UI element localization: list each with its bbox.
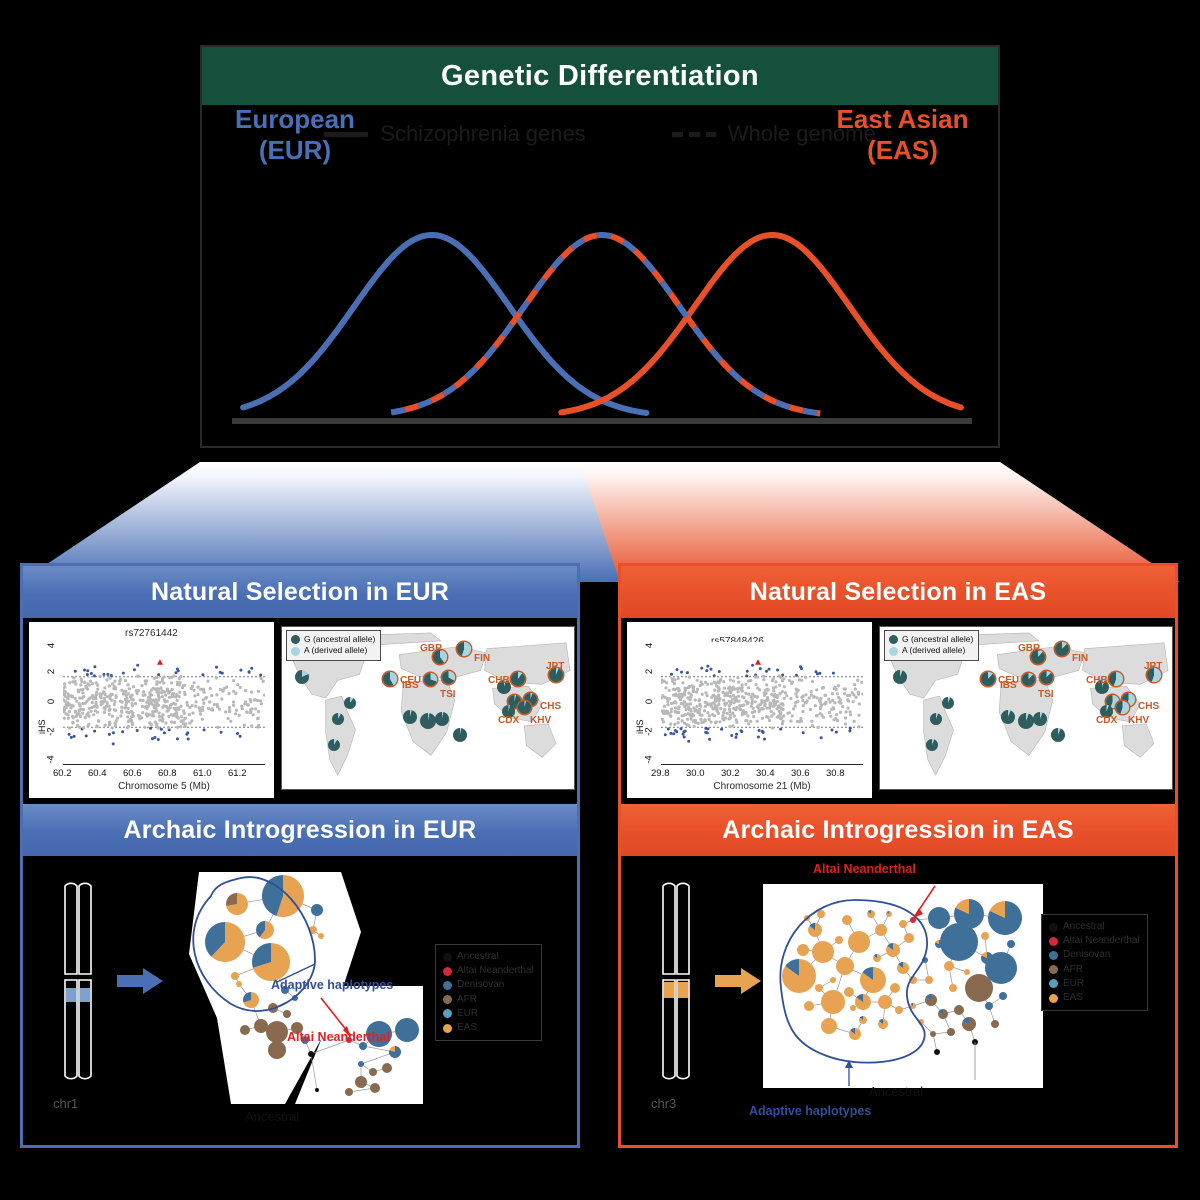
allele-pie-ibs [1022,673,1035,686]
population-label-chb: CHB [488,675,510,686]
population-label-gbr: GBR [1018,643,1040,654]
ihs-xtick-eas: 29.8 [651,768,670,779]
population-label-fin: FIN [1072,653,1088,664]
map-legend-row-ancestral: G (ancestral allele) [889,634,973,645]
allele-pie [453,728,467,742]
map-legend-eur: G (ancestral allele) A (derived allele) [286,630,381,661]
population-label-khv: KHV [530,715,551,726]
annotation-ancestral-eas: Ancestral [869,1084,923,1099]
ihs-ytick-eur: 4 [46,643,57,648]
curve-eur-whole-genome [391,235,820,414]
annotation-ancestral-eur: Ancestral [245,1109,299,1124]
body-natural-selection-eas: rs57848426 iHS 4 2 0 -2 -4 29.8 30.0 30.… [621,618,1175,804]
network-legend-row-afr: AFR [1049,963,1140,977]
population-label-jpt: JPT [546,661,564,672]
allele-pie [403,710,417,724]
network-legend-eas: AncestralAltai NeanderthalDenisovanAFREU… [1041,914,1148,1011]
header-natural-selection-eur: Natural Selection in EUR [23,566,577,618]
network-legend-row-ancestral: Ancestral [1049,920,1140,934]
allele-frequency-map-eas: G (ancestral allele) A (derived allele) … [879,626,1173,790]
allele-pie-ceu [383,672,397,686]
network-legend-label: Altai Neanderthal [457,964,534,978]
network-legend-label: Altai Neanderthal [1063,934,1140,948]
ihs-ytick-eur: 2 [46,669,57,674]
haplotype-node [964,969,970,975]
legend-dot-icon [443,981,452,990]
ihs-ytick-eas: -4 [644,755,655,763]
network-legend-label: Ancestral [457,950,499,964]
haplotype-node [821,1018,837,1034]
ihs-ytick-eur: -2 [46,727,57,735]
haplotype-node [949,984,957,992]
ihs-ytick-eas: 2 [644,669,655,674]
haplotype-node [844,987,854,997]
ihs-xtick-eas: 30.8 [826,768,845,779]
ihs-scatter-eur: rs72761442 iHS 4 2 0 -2 -4 60.2 60.4 60.… [29,622,274,798]
allele-pie-ibs [424,673,437,686]
ihs-x-axis-label-eur: Chromosome 5 (Mb) [63,781,265,792]
haplotype-node [899,920,907,928]
network-legend-row-ancestral: Ancestral [443,950,534,964]
map-legend-row-derived: A (derived allele) [889,645,973,656]
chromosome-ideogram-eas [647,878,707,1093]
allele-pie [1018,713,1034,729]
haplotype-node [890,983,900,993]
population-label-gbr: GBR [420,643,442,654]
haplotype-node [985,1002,993,1010]
legend-dot-icon [1049,937,1058,946]
network-legend-label: EAS [457,1021,477,1035]
haplotype-node [981,932,989,940]
legend-dot-icon [1049,965,1058,974]
network-legend-row-altai-neanderthal: Altai Neanderthal [1049,934,1140,948]
haplotype-node [308,1051,314,1057]
haplotype-node [954,1005,964,1015]
haplotype-node [934,1049,940,1055]
haplotype-node [370,1083,380,1093]
haplotype-node [817,910,825,918]
network-legend-label: Denisovan [457,978,504,992]
network-legend-row-denisovan: Denisovan [1049,948,1140,962]
allele-pie-fin [457,642,471,656]
ihs-x-axis-label-eas: Chromosome 21 (Mb) [661,781,863,792]
map-legend-label-ancestral: G (ancestral allele) [902,634,973,645]
haplotype-network-eas [763,884,1043,1088]
header-label-natural-selection-eas: Natural Selection in EAS [750,578,1047,607]
derived-allele-dot-icon [889,647,898,656]
haplotype-node [268,1041,286,1059]
annotation-adaptive-haplotypes-eas: Adaptive haplotypes [749,1104,871,1118]
allele-pie [1033,712,1047,726]
allele-pie [1051,728,1065,742]
legend-dot-icon [443,967,452,976]
allele-pie [893,670,907,684]
arrow-icon-eur [117,966,163,996]
haplotype-node [240,1025,250,1035]
population-label-cdx: CDX [498,715,519,726]
chromosome-label-eas: chr3 [651,1096,676,1111]
population-label-chs: CHS [1138,701,1159,712]
haplotype-node [910,917,916,923]
haplotype-node [254,1019,268,1033]
network-legend-row-eas: EAS [1049,991,1140,1005]
haplotype-node [821,990,845,1014]
haplotype-node [830,977,836,983]
legend-dot-icon [443,1024,452,1033]
ihs-xtick-eur: 61.2 [228,768,247,779]
chromosome-label-eur: chr1 [53,1096,78,1111]
haplotype-node [345,1088,353,1096]
haplotype-node [947,1028,955,1036]
network-legend-label: EUR [1063,977,1084,991]
haplotype-node [850,1005,856,1011]
haplotype-node [369,1068,377,1076]
haplotype-node [231,972,239,980]
curve-label-east-asian: East Asian (EAS) [820,104,985,165]
map-legend-row-ancestral: G (ancestral allele) [291,634,375,645]
allele-pie [930,713,942,725]
haplotype-node [965,974,993,1002]
annotation-altai-neanderthal-eas: Altai Neanderthal [813,862,916,876]
allele-pie [435,712,449,726]
allele-pie-tsi [442,671,455,684]
header-label-archaic-introgression-eas: Archaic Introgression in EAS [722,816,1074,845]
ihs-scatter-eas: rs57848426 iHS 4 2 0 -2 -4 29.8 30.0 30.… [627,622,872,798]
haplotype-node [835,936,843,944]
haplotype-node [283,1010,291,1018]
haplotype-node [382,1063,392,1073]
legend-dot-icon [443,995,452,1004]
panel-eur: Natural Selection in EUR rs72761442 iHS … [20,563,580,1148]
header-archaic-introgression-eas: Archaic Introgression in EAS [621,804,1175,856]
haplotype-node [944,961,954,971]
allele-pie-tsi [1040,671,1053,684]
legend-dot-icon [1049,994,1058,1003]
legend-dot-icon [1049,979,1058,988]
allele-pie-khv [1116,701,1129,714]
network-legend-row-eas: EAS [443,1021,534,1035]
ihs-xtick-eas: 30.0 [686,768,705,779]
network-legend-row-eur: EUR [443,1007,534,1021]
haplotype-node [836,957,854,975]
ihs-points-eas [661,642,863,762]
ancestral-allele-dot-icon [889,635,898,644]
ihs-ytick-eas: 4 [644,643,655,648]
haplotype-node [804,1001,814,1011]
curve-label-european: European (EUR) [220,104,370,165]
population-label-chs: CHS [540,701,561,712]
haplotype-node [991,1020,999,1028]
allele-pie [344,697,356,709]
population-label-fin: FIN [474,653,490,664]
haplotype-node [355,1076,367,1088]
ihs-xtick-eas: 30.2 [721,768,740,779]
body-archaic-introgression-eas: chr3 Altai Neanderthal Adaptive haplotyp… [621,856,1175,1145]
ihs-xtick-eur: 60.6 [123,768,142,779]
haplotype-node [315,1088,319,1092]
haplotype-node [358,1061,364,1067]
allele-pie-khv [518,701,531,714]
haplotype-node [311,904,323,916]
allele-pie-chb [1109,672,1123,686]
population-label-jpt: JPT [1144,661,1162,672]
allele-pie [926,739,938,751]
population-label-cdx: CDX [1096,715,1117,726]
ihs-x-axis-eur [63,764,265,765]
network-legend-eur: AncestralAltai NeanderthalDenisovanAFREU… [435,944,542,1041]
network-legend-row-afr: AFR [443,993,534,1007]
legend-dot-icon [1049,923,1058,932]
haplotype-node [266,1021,288,1043]
haplotype-network-eur [165,868,425,1126]
ihs-ytick-eas: 0 [644,699,655,704]
haplotype-node [318,933,324,939]
population-label-ibs: IBS [402,680,419,691]
map-legend-row-derived: A (derived allele) [291,645,375,656]
haplotype-node [842,915,852,925]
map-legend-label-derived: A (derived allele) [304,645,367,656]
header-label-archaic-introgression-eur: Archaic Introgression in EUR [124,816,477,845]
haplotype-node [895,1006,903,1014]
body-archaic-introgression-eur: chr1 Adaptive haplotypes Altai Neanderth… [23,856,577,1145]
distribution-curves-plot [202,159,1002,449]
allele-frequency-map-eur: G (ancestral allele) A (derived allele) … [281,626,575,790]
haplotype-node [928,907,950,929]
ihs-xtick-eur: 60.4 [88,768,107,779]
legend-label-schizophrenia-genes: Schizophrenia genes [380,121,585,147]
haplotype-node [875,924,887,936]
body-natural-selection-eur: rs72761442 iHS 4 2 0 -2 -4 60.2 60.4 60.… [23,618,577,804]
ihs-points-eur [63,642,265,762]
haplotype-node [925,976,933,984]
ihs-xtick-eur: 60.2 [53,768,72,779]
haplotype-node [848,931,870,953]
ihs-xtick-eur: 61.0 [193,768,212,779]
ihs-ytick-eas: -2 [644,727,655,735]
annotation-altai-neanderthal-eur: Altai Neanderthal [287,1030,390,1044]
chromosome-ideogram-eur [49,878,109,1093]
network-legend-label: AFR [457,993,477,1007]
network-legend-row-eur: EUR [1049,977,1140,991]
allele-pie [420,713,436,729]
page-title: Genetic Differentiation [441,60,759,93]
haplotype-node [878,995,892,1009]
ancestral-allele-dot-icon [291,635,300,644]
allele-pie [295,670,309,684]
ihs-xtick-eas: 30.4 [756,768,775,779]
population-label-ibs: IBS [1000,680,1017,691]
haplotype-node [904,933,914,943]
panel-eas: Natural Selection in EAS rs57848426 iHS … [618,563,1178,1148]
curve-eur-schizophrenia [243,235,646,413]
panel-title-bar: Genetic Differentiation [202,47,998,105]
legend-dot-icon [1049,951,1058,960]
network-legend-label: EAS [1063,991,1083,1005]
dashed-line-swatch-icon [672,132,716,137]
haplotype-node [930,1031,936,1037]
genetic-differentiation-panel: Genetic Differentiation Schizophrenia ge… [200,45,1000,448]
haplotype-node [815,984,823,992]
network-legend-label: AFR [1063,963,1083,977]
haplotype-node [812,941,834,963]
allele-pie [1001,710,1015,724]
haplotype-node [999,992,1007,1000]
map-legend-label-ancestral: G (ancestral allele) [304,634,375,645]
haplotype-node [797,944,809,956]
figure-root: Genetic Differentiation Schizophrenia ge… [0,0,1200,1200]
curve-eas-schizophrenia [561,235,961,412]
header-archaic-introgression-eur: Archaic Introgression in EUR [23,804,577,856]
allele-pie [332,713,344,725]
ihs-x-axis-eas [661,764,863,765]
legend-dot-icon [443,953,452,962]
allele-pie [942,697,954,709]
allele-pie [328,739,340,751]
map-legend-eas: G (ancestral allele) A (derived allele) [884,630,979,661]
derived-allele-dot-icon [291,647,300,656]
network-legend-label: Denisovan [1063,948,1110,962]
header-label-natural-selection-eur: Natural Selection in EUR [151,578,449,607]
legend-dot-icon [443,1009,452,1018]
population-label-tsi: TSI [440,689,456,700]
ihs-xtick-eas: 30.6 [791,768,810,779]
haplotype-node [236,981,242,987]
ihs-ytick-eur: -4 [46,755,57,763]
haplotype-node [395,1018,419,1042]
network-legend-row-denisovan: Denisovan [443,978,534,992]
population-label-chb: CHB [1086,675,1108,686]
ihs-ytick-eur: 0 [46,699,57,704]
annotation-adaptive-haplotypes-eur: Adaptive haplotypes [271,978,393,992]
haplotype-node [940,923,978,961]
arrow-icon-eas [715,966,761,996]
haplotype-node [1007,940,1015,948]
network-legend-row-altai-neanderthal: Altai Neanderthal [443,964,534,978]
allele-pie-ceu [981,672,995,686]
map-legend-label-derived: A (derived allele) [902,645,965,656]
population-label-tsi: TSI [1038,689,1054,700]
allele-pie-fin [1055,642,1069,656]
network-legend-label: Ancestral [1063,920,1105,934]
allele-pie-chb [511,672,525,686]
ihs-snp-label-eur: rs72761442 [125,628,178,639]
header-natural-selection-eas: Natural Selection in EAS [621,566,1175,618]
ihs-xtick-eur: 60.8 [158,768,177,779]
network-legend-label: EUR [457,1007,478,1021]
population-label-khv: KHV [1128,715,1149,726]
